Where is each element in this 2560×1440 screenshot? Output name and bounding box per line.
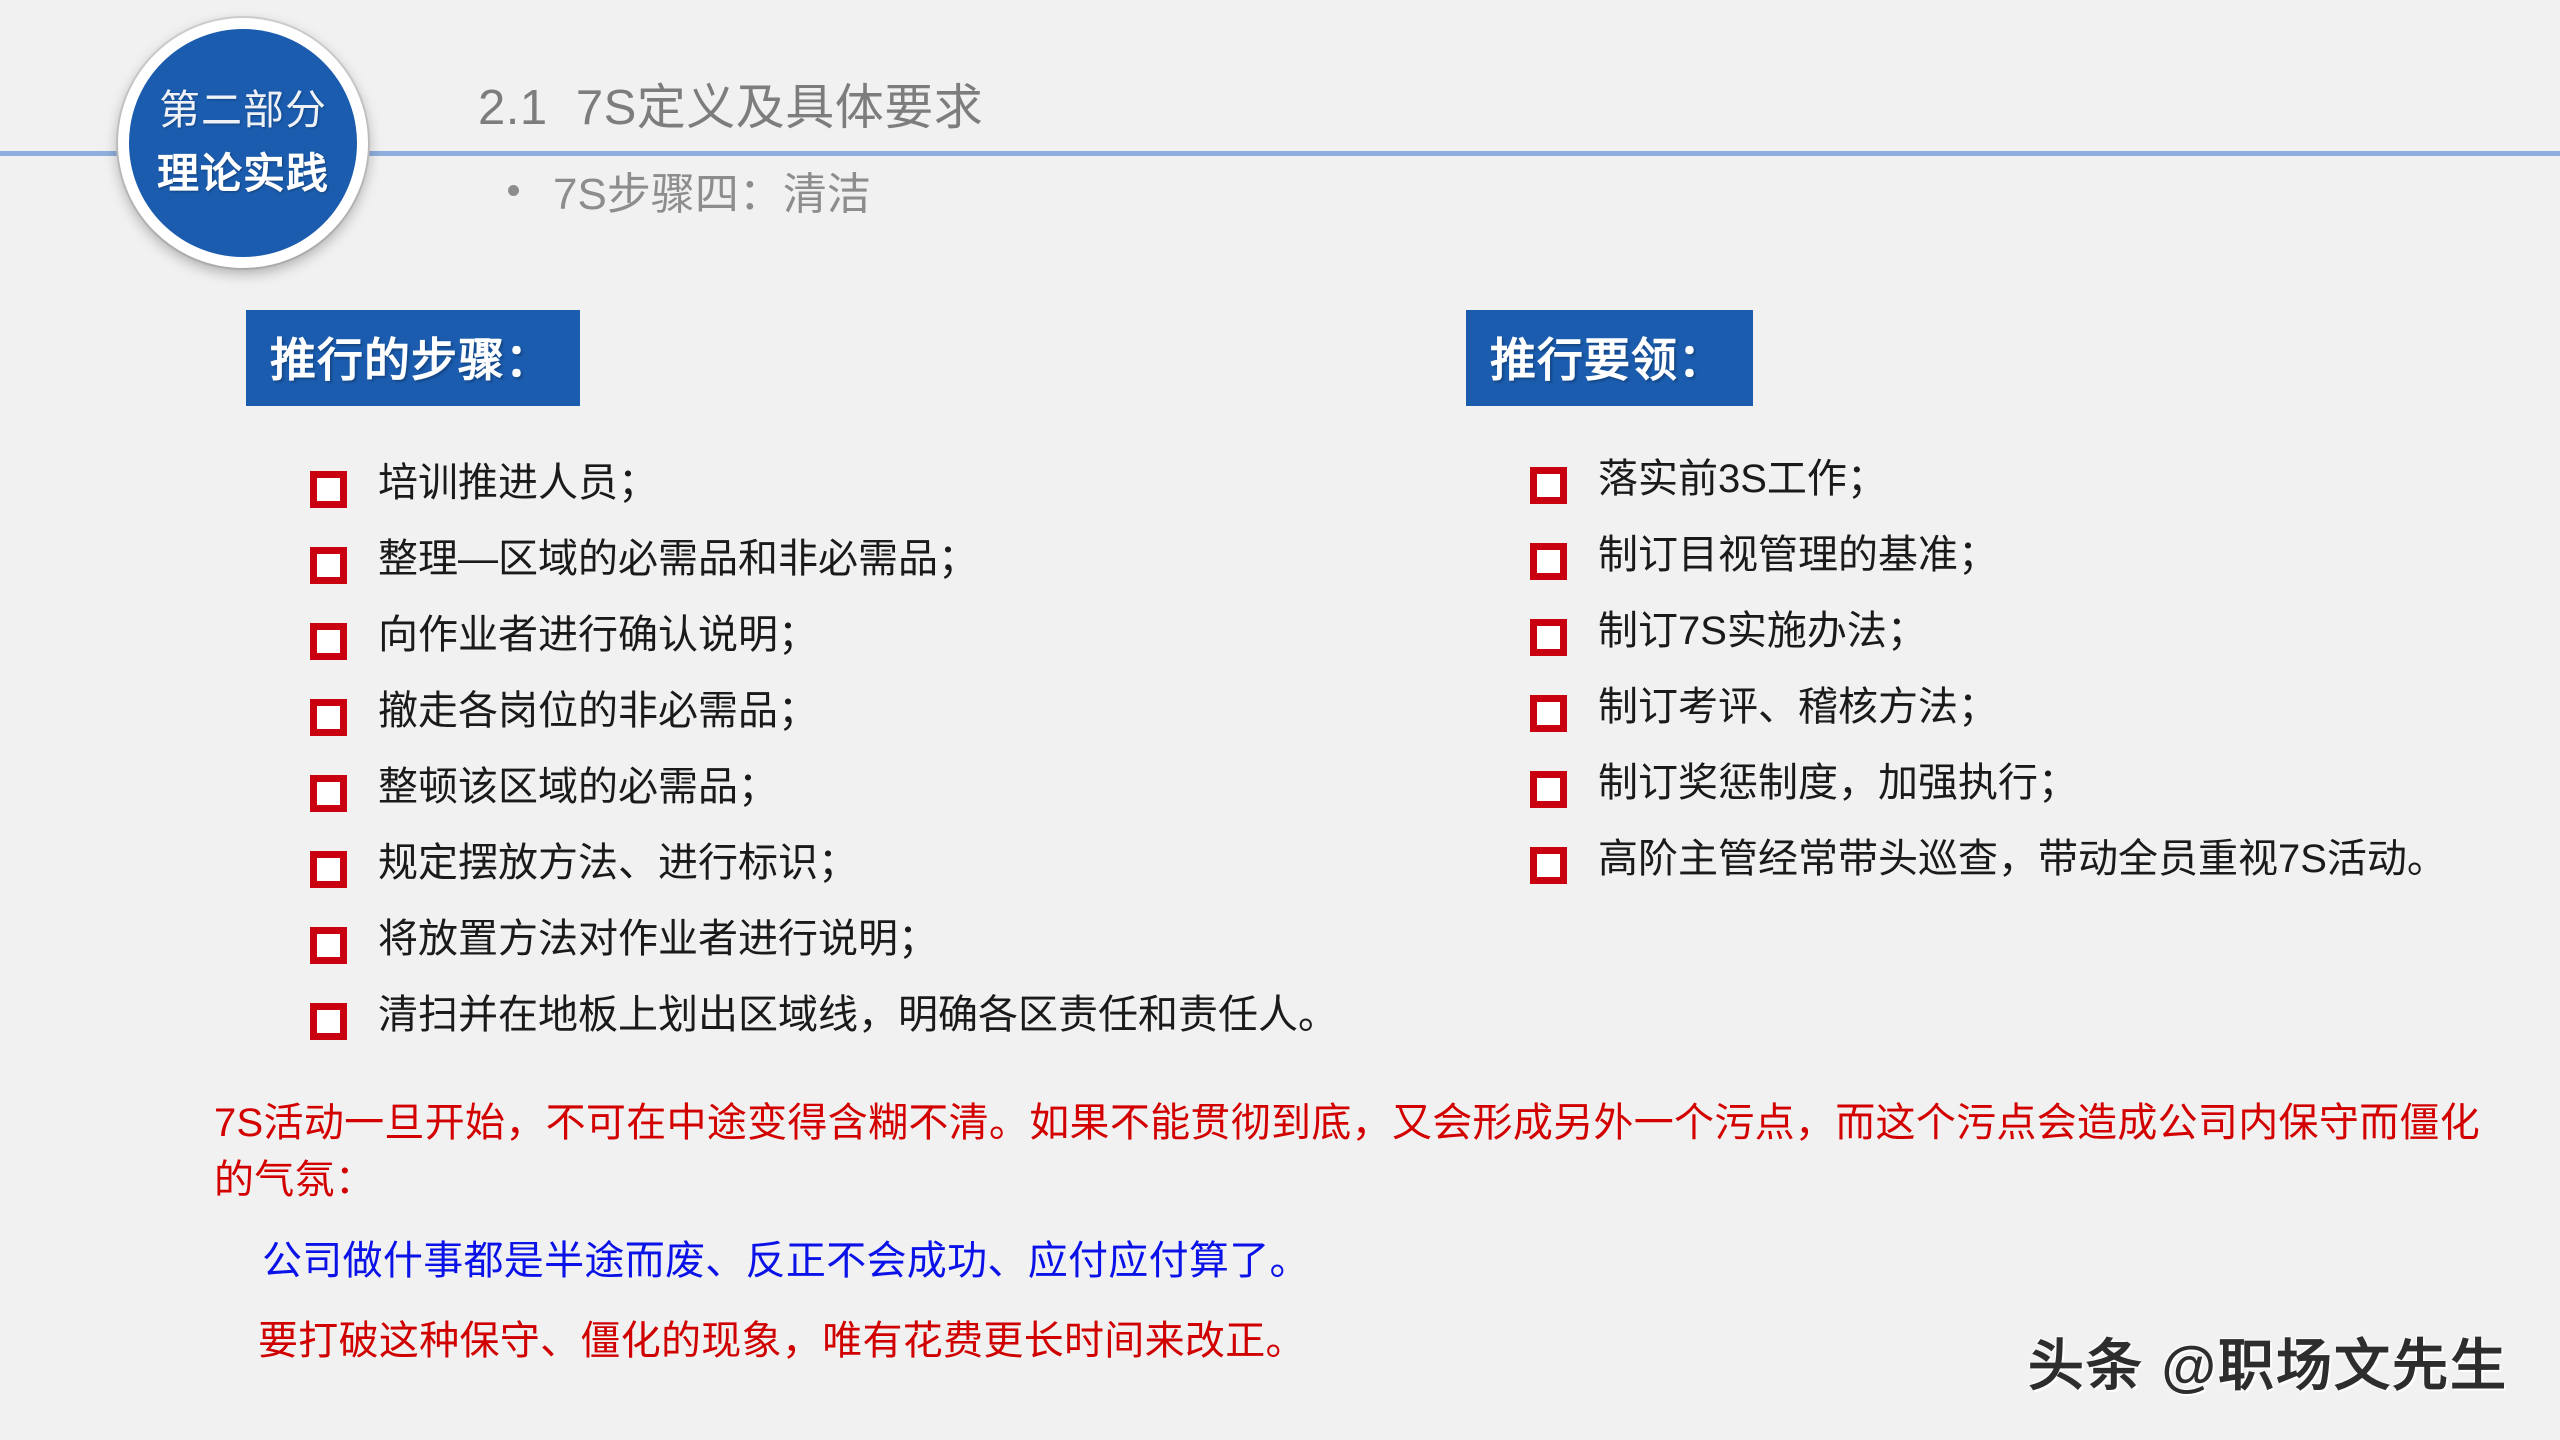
page-subtitle-label: 7S步骤四：清洁 [553,158,871,222]
square-bullet-icon [1530,847,1567,884]
list-item: 培训推进人员； [310,462,1376,508]
list-item-label: 制订考评、稽核方法； [1598,686,1998,729]
list-item: 规定摆放方法、进行标识； [310,842,1376,888]
list-item: 落实前3S工作； [1530,458,2536,504]
list-item-label: 落实前3S工作； [1598,458,1887,501]
right-column: 推行要领： 落实前3S工作； 制订目视管理的基准； 制订7S实施办法； 制订考评… [1466,310,2536,914]
note-blue-line: 公司做什事都是半途而废、反正不会成功、应付应付算了。 [262,1235,2494,1287]
list-item: 制订考评、稽核方法； [1530,686,2536,732]
left-column: 推行的步骤： 培训推进人员； 整理—区域的必需品和非必需品； 向作业者进行确认说… [246,310,1376,1070]
watermark: 头条 @职场文先生 [2028,1321,2508,1402]
list-item-label: 制订7S实施办法； [1598,610,1927,653]
square-bullet-icon [310,1003,347,1040]
page-subtitle: 7S步骤四：清洁 [508,158,871,222]
list-item-label: 向作业者进行确认说明； [378,614,818,657]
list-item-label: 制订奖惩制度，加强执行； [1598,762,2078,805]
list-item: 制订7S实施办法； [1530,610,2536,656]
badge-part-label: 第二部分 [159,87,327,134]
list-item: 整理—区域的必需品和非必需品； [310,538,1376,584]
square-bullet-icon [310,471,347,508]
header-divider-line [0,151,2560,156]
list-item-label: 撤走各岗位的非必需品； [378,690,818,733]
list-item-label: 培训推进人员； [378,462,658,505]
list-item: 清扫并在地板上划出区域线，明确各区责任和责任人。 [310,994,1376,1040]
list-item: 整顿该区域的必需品； [310,766,1376,812]
list-item-label: 将放置方法对作业者进行说明； [378,918,938,961]
list-item: 向作业者进行确认说明； [310,614,1376,660]
square-bullet-icon [1530,619,1567,656]
list-item-label: 清扫并在地板上划出区域线，明确各区责任和责任人。 [378,994,1338,1037]
badge-title-label: 理论实践 [157,150,329,198]
square-bullet-icon [310,699,347,736]
note-red-paragraph: 7S活动一旦开始，不可在中途变得含糊不清。如果不能贯彻到底，又会形成另外一个污点… [214,1095,2494,1209]
list-item-label: 高阶主管经常带头巡查，带动全员重视7S活动。 [1598,838,2447,881]
list-item-label: 规定摆放方法、进行标识； [378,842,858,885]
list-item: 高阶主管经常带头巡查，带动全员重视7S活动。 [1530,838,2536,884]
bullet-dot-icon [508,185,519,196]
square-bullet-icon [1530,543,1567,580]
page-title: 2.1 7S定义及具体要求 [478,68,983,139]
square-bullet-icon [310,775,347,812]
left-column-heading: 推行的步骤： [246,310,580,406]
square-bullet-icon [310,623,347,660]
right-column-heading: 推行要领： [1466,310,1753,406]
left-column-list: 培训推进人员； 整理—区域的必需品和非必需品； 向作业者进行确认说明； 撤走各岗… [246,462,1376,1040]
list-item-label: 整顿该区域的必需品； [378,766,778,809]
right-column-list: 落实前3S工作； 制订目视管理的基准； 制订7S实施办法； 制订考评、稽核方法；… [1466,458,2536,884]
list-item: 制订目视管理的基准； [1530,534,2536,580]
list-item-label: 制订目视管理的基准； [1598,534,1998,577]
list-item: 撤走各岗位的非必需品； [310,690,1376,736]
section-badge: 第二部分 理论实践 [118,18,368,268]
square-bullet-icon [310,927,347,964]
square-bullet-icon [310,547,347,584]
square-bullet-icon [1530,695,1567,732]
square-bullet-icon [310,851,347,888]
square-bullet-icon [1530,467,1567,504]
list-item-label: 整理—区域的必需品和非必需品； [378,538,978,581]
square-bullet-icon [1530,771,1567,808]
list-item: 将放置方法对作业者进行说明； [310,918,1376,964]
list-item: 制订奖惩制度，加强执行； [1530,762,2536,808]
